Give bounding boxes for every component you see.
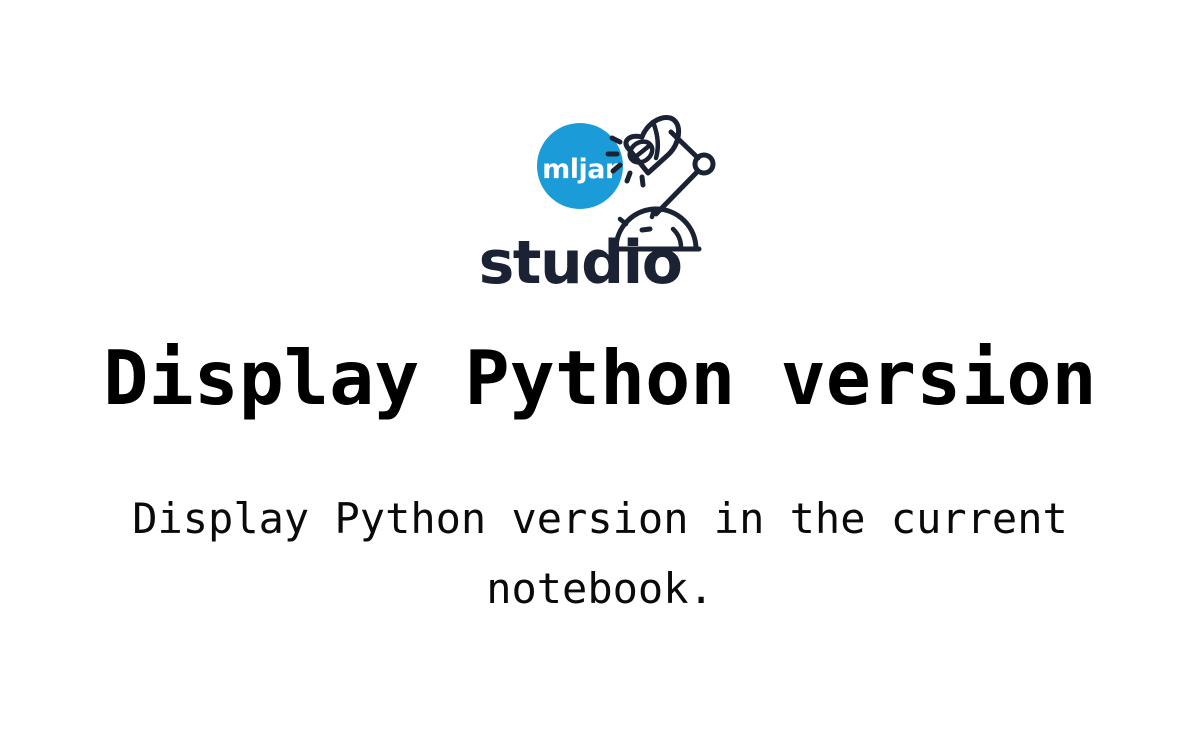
page-root: mljar — [0, 0, 1200, 730]
logo-mark-text: mljar — [542, 154, 619, 185]
page-title: Display Python version — [0, 332, 1200, 424]
page-subtitle-wrap: Display Python version in the current no… — [0, 484, 1200, 624]
page-subtitle: Display Python version in the current no… — [110, 484, 1090, 624]
mljar-studio-logo: mljar — [470, 96, 730, 286]
lamp-bulb-filament-icon — [634, 146, 649, 158]
lamp-base-notch-icon — [652, 209, 654, 217]
logo-wordmark-text: studio — [479, 228, 682, 286]
logo-svg: mljar — [470, 96, 730, 286]
lamp-base-tick-icon — [620, 219, 626, 224]
